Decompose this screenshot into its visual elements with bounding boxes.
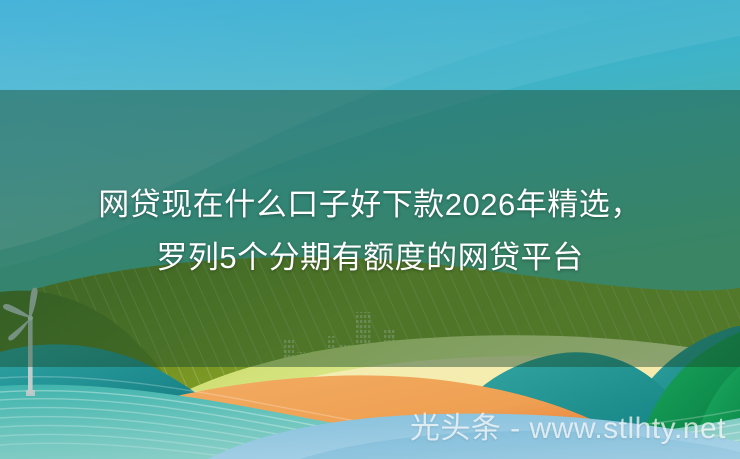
site-watermark: 光头条 - www.stlhty.net	[410, 411, 726, 447]
article-cover-image: 网贷现在什么口子好下款2026年精选， 罗列5个分期有额度的网贷平台 光头条 -…	[0, 0, 740, 459]
page-title: 网贷现在什么口子好下款2026年精选， 罗列5个分期有额度的网贷平台	[0, 178, 740, 284]
